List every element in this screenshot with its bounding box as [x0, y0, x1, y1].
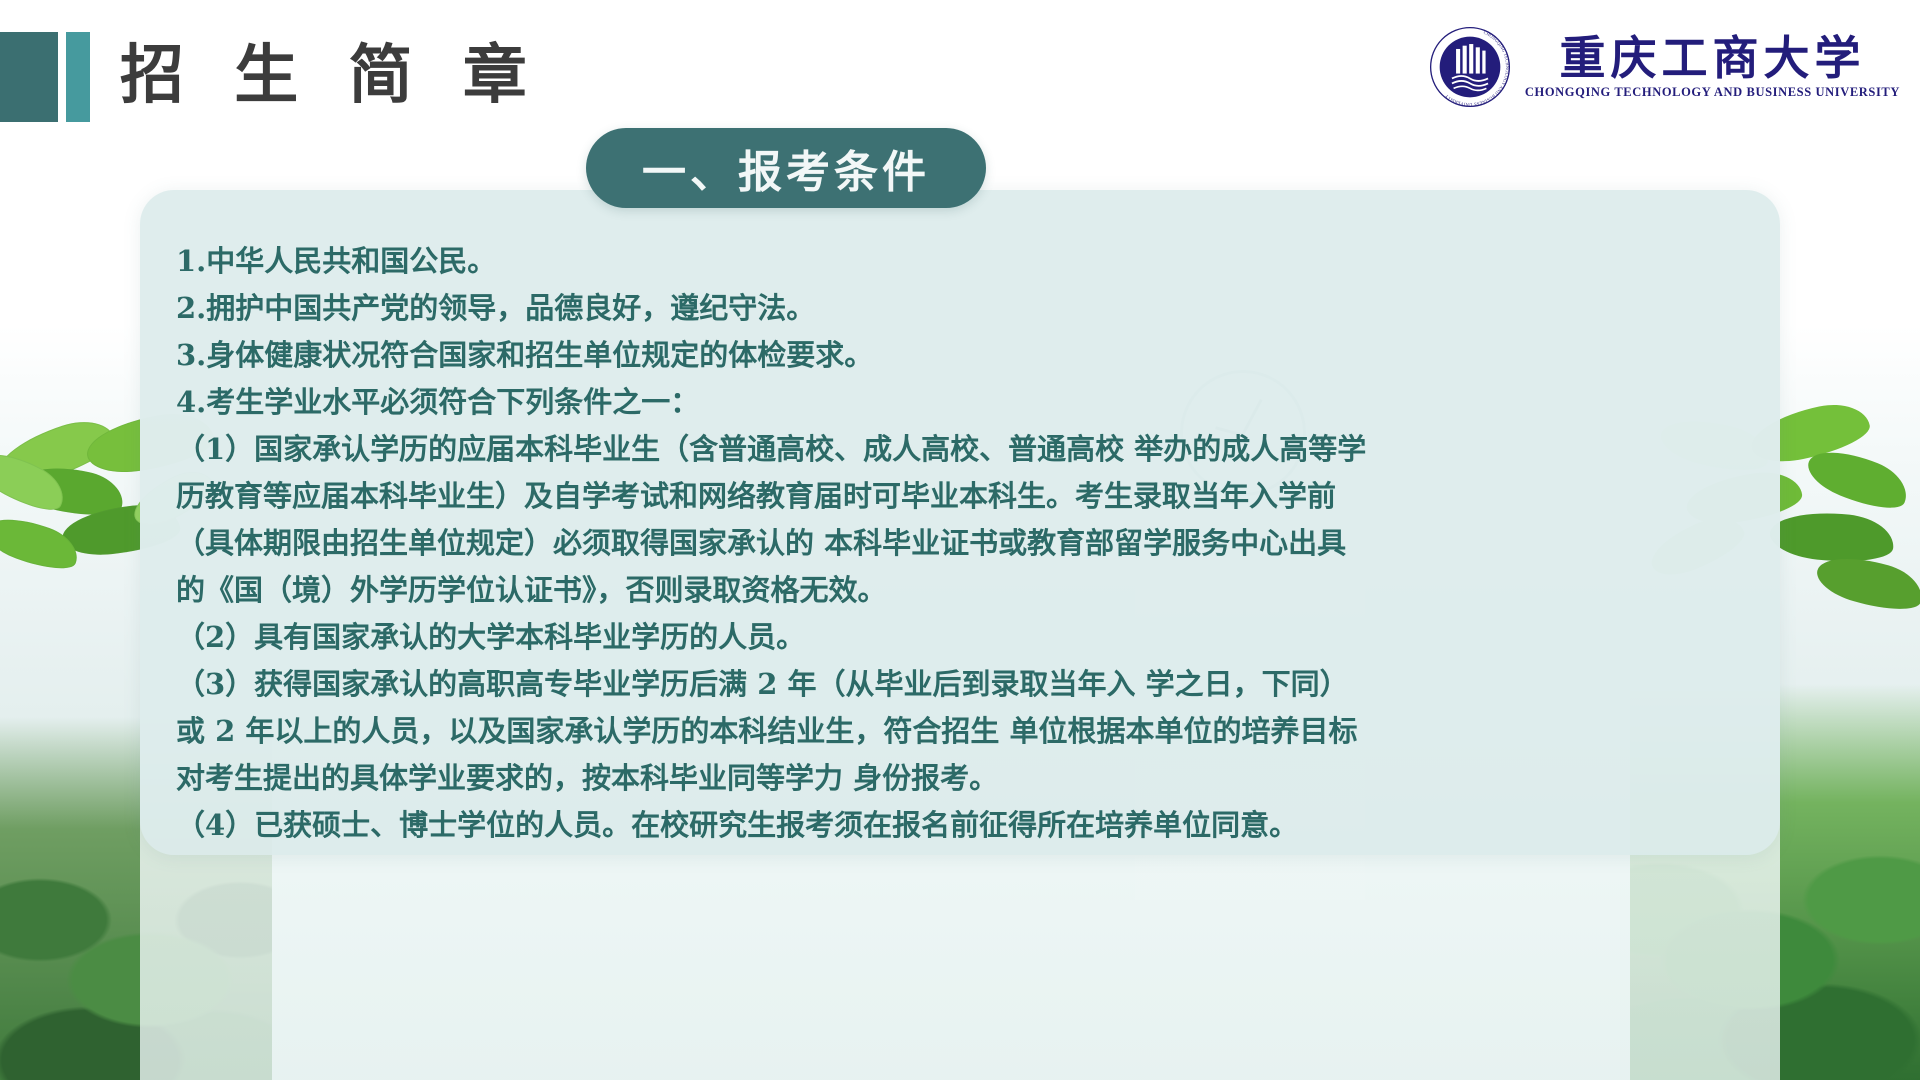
list-item: 3.身体健康状况符合国家和招生单位规定的体检要求。	[176, 332, 1756, 379]
requirements-list: 1.中华人民共和国公民。 2.拥护中国共产党的领导，品德良好，遵纪守法。 3.身…	[176, 238, 1756, 849]
list-item: （2）具有国家承认的大学本科毕业学历的人员。	[176, 614, 1756, 661]
list-item: 4.考生学业水平必须符合下列条件之一：	[176, 379, 1756, 426]
list-item: 或 2 年以上的人员，以及国家承认学历的本科结业生，符合招生 单位根据本单位的培…	[176, 708, 1756, 755]
logo-name-cn: 重庆工商大学	[1559, 34, 1865, 82]
logo-name-en: CHONGQING TECHNOLOGY AND BUSINESS UNIVER…	[1525, 85, 1900, 100]
header-accent-bar	[66, 32, 90, 122]
list-item: （4）已获硕士、博士学位的人员。在校研究生报考须在报名前征得所在培养单位同意。	[176, 802, 1756, 849]
page-title: 招 生 简 章	[120, 24, 541, 116]
university-logo: CHONGQING TECHNOLOGY AND BUSINESS UNIVER…	[1429, 26, 1900, 108]
slide-canvas: 招 生 简 章 CHONGQING TECHNOLOGY AND BUSINES…	[0, 0, 1920, 1080]
list-item: 1.中华人民共和国公民。	[176, 238, 1756, 285]
university-seal-icon: CHONGQING TECHNOLOGY AND BUSINESS UNIVER…	[1429, 26, 1511, 108]
header-accent-block	[0, 32, 58, 122]
list-item: （1）国家承认学历的应届本科毕业生（含普通高校、成人高校、普通高校 举办的成人高…	[176, 426, 1756, 473]
list-item: （3）获得国家承认的高职高专毕业学历后满 2 年（从毕业后到录取当年入 学之日，…	[176, 661, 1756, 708]
list-item: 2.拥护中国共产党的领导，品德良好，遵纪守法。	[176, 285, 1756, 332]
list-item: 历教育等应届本科毕业生）及自学考试和网络教育届时可毕业本科生。考生录取当年入学前	[176, 473, 1756, 520]
list-item: （具体期限由招生单位规定）必须取得国家承认的 本科毕业证书或教育部留学服务中心出…	[176, 520, 1756, 567]
list-item: 的《国（境）外学历学位认证书》，否则录取资格无效。	[176, 567, 1756, 614]
logo-wordmark: 重庆工商大学 CHONGQING TECHNOLOGY AND BUSINESS…	[1525, 34, 1900, 100]
section-title-pill: 一、报考条件	[586, 128, 986, 208]
list-item: 对考生提出的具体学业要求的，按本科毕业同等学力 身份报考。	[176, 755, 1756, 802]
